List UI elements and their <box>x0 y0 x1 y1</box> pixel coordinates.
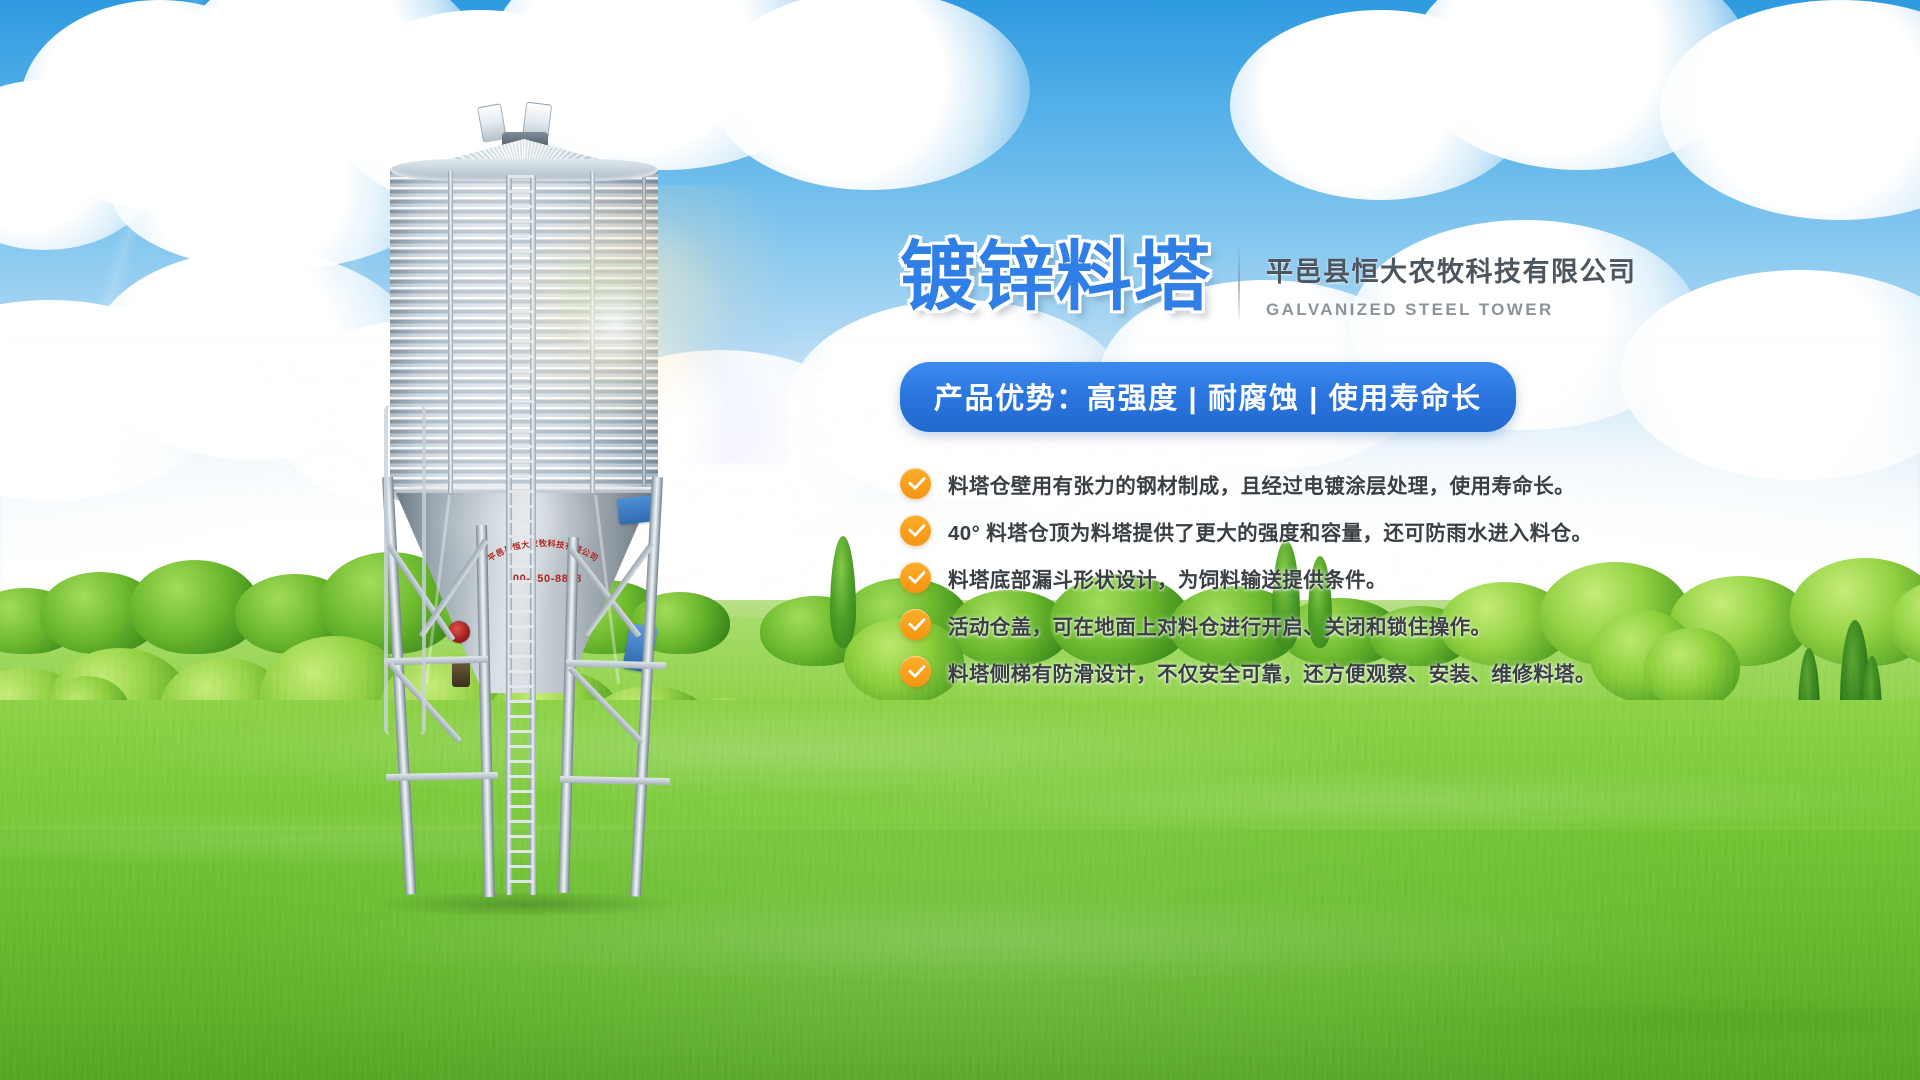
check-circle-icon <box>900 609 931 640</box>
check-circle-icon <box>900 562 931 593</box>
list-item-label: 料塔仓壁用有张力的钢材制成，且经过电镀涂层处理，使用寿命长。 <box>948 469 1575 499</box>
silo-leg-rail-lower <box>560 776 670 785</box>
advantage-badge: 产品优势：高强度 | 耐腐蚀 | 使用寿命长 <box>900 362 1516 432</box>
list-item: 料塔仓壁用有张力的钢材制成，且经过电镀涂层处理，使用寿命长。 <box>900 468 1860 499</box>
ladder-safety-cage <box>384 405 426 735</box>
galvanized-feed-silo-image: 平邑县恒大农牧科技有限公司 400-850-8818 <box>390 105 710 895</box>
list-item: 料塔侧梯有防滑设计，不仅安全可靠，还方便观察、安装、维修料塔。 <box>900 656 1860 687</box>
check-circle-icon <box>900 656 931 687</box>
silo-body-stiffener <box>590 171 595 493</box>
list-item-label: 活动仓盖，可在地面上对料仓进行开启、关闭和锁住操作。 <box>948 610 1491 640</box>
field-near <box>0 830 1920 1080</box>
list-item: 料塔底部漏斗形状设计，为饲料输送提供条件。 <box>900 562 1860 593</box>
advantage-badge-text: 产品优势：高强度 | 耐腐蚀 | 使用寿命长 <box>934 383 1482 415</box>
list-item: 40° 料塔仓顶为料塔提供了更大的强度和容量，还可防雨水进入料仓。 <box>900 515 1860 546</box>
company-name: 平邑县恒大农牧科技有限公司 <box>1266 250 1637 289</box>
silo-body-stiffener <box>642 177 646 487</box>
banner-stage: 平邑县恒大农牧科技有限公司 400-850-8818 <box>0 0 1920 1080</box>
check-circle-icon <box>900 468 931 499</box>
silo-leg-rail-upper <box>566 660 666 670</box>
title-row: 镀锌料塔 平邑县恒大农牧科技有限公司 GALVANIZED STEEL TOWE… <box>900 240 1860 320</box>
silo-body-stiffener <box>448 171 453 493</box>
title-divider <box>1238 248 1240 320</box>
list-item-label: 40° 料塔仓顶为料塔提供了更大的强度和容量，还可防雨水进入料仓。 <box>948 516 1592 546</box>
list-item-label: 料塔底部漏斗形状设计，为饲料输送提供条件。 <box>948 563 1387 593</box>
silo-side-ladder <box>506 175 536 895</box>
list-item-label: 料塔侧梯有防滑设计，不仅安全可靠，还方便观察、安装、维修料塔。 <box>948 657 1596 687</box>
sun-glow <box>1490 10 1600 120</box>
silo-cross-brace <box>568 666 645 745</box>
company-block: 平邑县恒大农牧科技有限公司 GALVANIZED STEEL TOWER <box>1266 240 1637 320</box>
page-title: 镀锌料塔 <box>900 240 1212 316</box>
silo-leg-4 <box>630 477 663 897</box>
silo-outlet-boot <box>452 661 470 687</box>
check-circle-icon <box>900 515 931 546</box>
list-item: 活动仓盖，可在地面上对料仓进行开启、关闭和锁住操作。 <box>900 609 1860 640</box>
lens-flare-speck <box>495 40 509 54</box>
company-name-en: GALVANIZED STEEL TOWER <box>1266 300 1637 320</box>
banner-text-panel: 镀锌料塔 平邑县恒大农牧科技有限公司 GALVANIZED STEEL TOWE… <box>900 240 1860 703</box>
ladder-rungs <box>508 175 534 895</box>
feature-list: 料塔仓壁用有张力的钢材制成，且经过电镀涂层处理，使用寿命长。 40° 料塔仓顶为… <box>900 468 1860 687</box>
